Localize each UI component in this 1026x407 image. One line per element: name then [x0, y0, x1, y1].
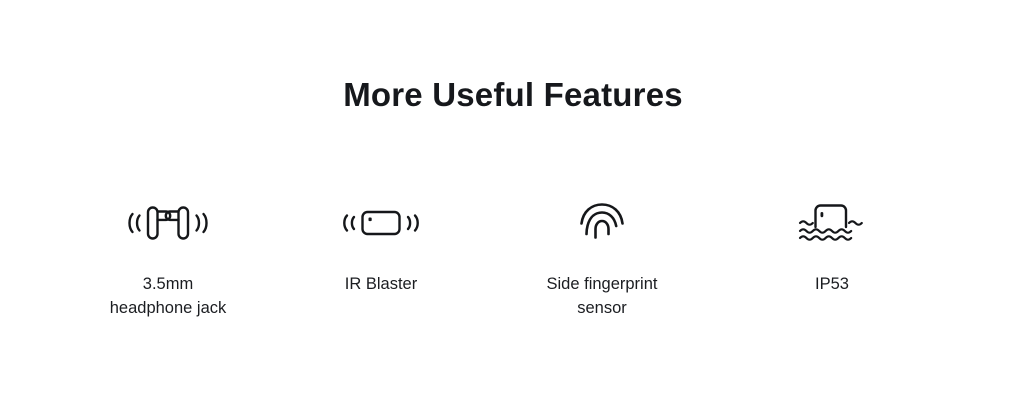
feature-label: IP53: [815, 272, 849, 296]
features-list: 3.5mm headphone jack IR Blaster: [0, 196, 1026, 320]
water-resistant-phone-icon: [794, 196, 870, 250]
more-useful-features-section: More Useful Features: [0, 0, 1026, 407]
page-title: More Useful Features: [0, 74, 1026, 116]
feature-item-ir-blaster: IR Blaster: [286, 196, 476, 296]
feature-item-headphone-jack: 3.5mm headphone jack: [50, 196, 286, 320]
fingerprint-icon: [578, 196, 626, 250]
feature-label: 3.5mm headphone jack: [110, 272, 227, 320]
feature-label: Side fingerprint sensor: [547, 272, 658, 320]
ir-blaster-icon: [340, 196, 422, 250]
feature-item-ip53: IP53: [732, 196, 932, 296]
feature-item-fingerprint: Side fingerprint sensor: [492, 196, 712, 320]
feature-label: IR Blaster: [345, 272, 417, 296]
wireless-earbuds-icon: [122, 196, 214, 250]
